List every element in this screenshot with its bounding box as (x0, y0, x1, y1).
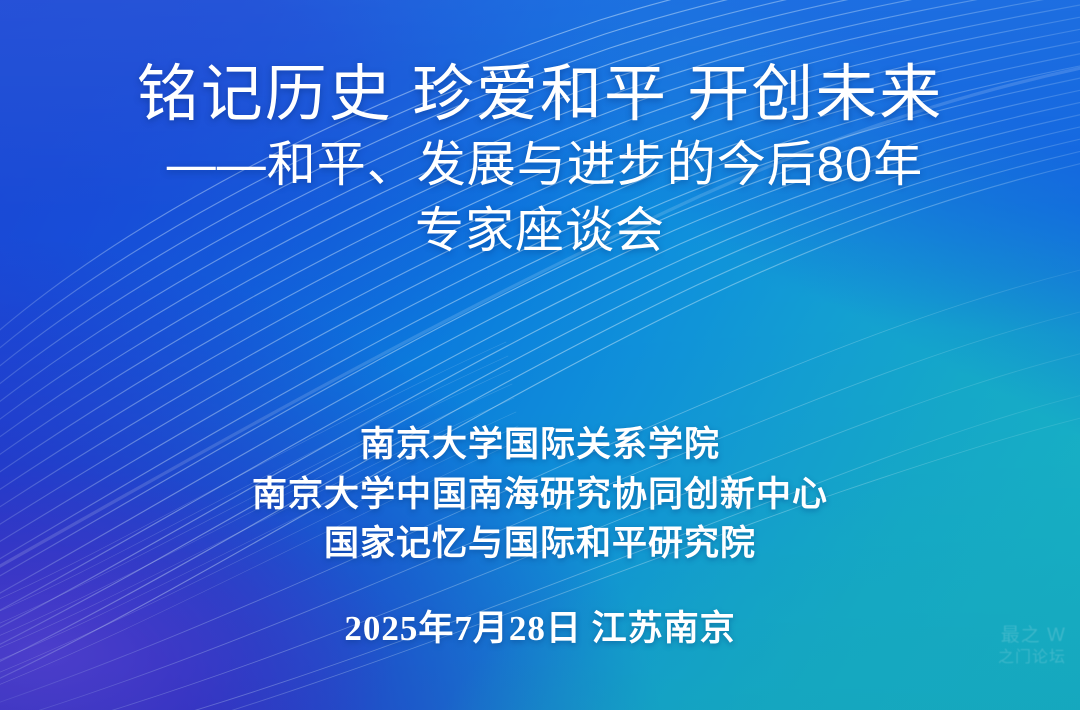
watermark-line-1: 最之 W (998, 624, 1066, 648)
organizer-line-3: 国家记忆与国际和平研究院 (0, 519, 1080, 569)
organizer-line-2: 南京大学中国南海研究协同创新中心 (0, 470, 1080, 520)
organizer-line-1: 南京大学国际关系学院 (0, 420, 1080, 470)
date-location-block: 2025年7月28日 江苏南京 (0, 600, 1080, 651)
title-main: 铭记历史 珍爱和平 开创未来 (0, 62, 1080, 128)
title-slide: 铭记历史 珍爱和平 开创未来 ——和平、发展与进步的今后80年 专家座谈会 南京… (0, 0, 1080, 710)
watermark: 最之 W 之门论坛 (998, 624, 1066, 668)
watermark-line-2: 之门论坛 (998, 648, 1066, 668)
organizer-block: 南京大学国际关系学院 南京大学中国南海研究协同创新中心 国家记忆与国际和平研究院 (0, 420, 1080, 569)
slide-content: 铭记历史 珍爱和平 开创未来 ——和平、发展与进步的今后80年 专家座谈会 南京… (0, 0, 1080, 710)
title-event-type: 专家座谈会 (0, 200, 1080, 264)
date-location-text: 2025年7月28日 江苏南京 (0, 600, 1080, 651)
title-subtitle: ——和平、发展与进步的今后80年 (0, 134, 1080, 197)
title-block: 铭记历史 珍爱和平 开创未来 ——和平、发展与进步的今后80年 专家座谈会 (0, 62, 1080, 264)
